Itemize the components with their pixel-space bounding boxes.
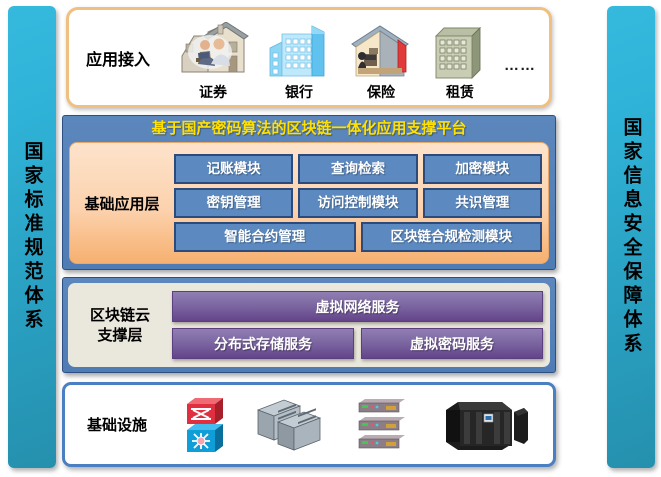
app-item-caption: 租赁	[446, 82, 474, 102]
app-item-leasing[interactable]: 租赁	[430, 14, 490, 102]
sidebar-right-label: 国家信息安全保障体系	[622, 117, 641, 357]
basic-application-layer-panel: 基础应用层 记账模块 查询检索 加密模块 密钥管理 访问控制模块 共识管理 智能…	[69, 142, 549, 264]
network-switch-icon	[183, 394, 227, 456]
service-virtual-network[interactable]: 虚拟网络服务	[172, 291, 543, 322]
platform-frame: 基于国产密码算法的区块链一体化应用支撑平台 基础应用层 记账模块 查询检索 加密…	[62, 115, 556, 270]
server-cabinet-icon	[438, 396, 530, 454]
app-item-securities[interactable]: 证券	[174, 14, 252, 102]
infrastructure-panel: 基础设施	[62, 382, 556, 467]
application-access-panel: 应用接入	[66, 7, 552, 108]
module-blockchain-compliance-detection[interactable]: 区块链合规检测模块	[361, 222, 543, 252]
rack-servers-icon	[353, 395, 411, 455]
service-row: 分布式存储服务 虚拟密码服务	[172, 328, 543, 359]
service-row: 虚拟网络服务	[172, 291, 543, 322]
app-item-insurance[interactable]: 保险	[346, 14, 416, 102]
module-key-management[interactable]: 密钥管理	[174, 188, 293, 218]
sidebar-right-information-security: 国家信息安全保障体系	[607, 6, 655, 468]
app-item-bank[interactable]: 银行	[266, 14, 332, 102]
securities-house-icon	[174, 22, 252, 80]
diagram-canvas: 国家标准规范体系 国家信息安全保障体系 应用接入	[0, 0, 661, 477]
cloud-label-line1: 区块链云	[90, 306, 150, 324]
module-encryption[interactable]: 加密模块	[423, 154, 542, 184]
service-distributed-storage[interactable]: 分布式存储服务	[172, 328, 354, 359]
insurance-house-icon	[346, 22, 416, 80]
module-smart-contract-management[interactable]: 智能合约管理	[174, 222, 356, 252]
module-row: 密钥管理 访问控制模块 共识管理	[174, 188, 542, 218]
platform-title: 基于国产密码算法的区块链一体化应用支撑平台	[63, 116, 555, 140]
application-access-label: 应用接入	[69, 46, 167, 70]
module-consensus-management[interactable]: 共识管理	[423, 188, 542, 218]
infrastructure-label: 基础设施	[65, 414, 169, 435]
module-accounting[interactable]: 记账模块	[174, 154, 293, 184]
server-stack-icon	[254, 396, 326, 454]
sidebar-left-label: 国家标准规范体系	[23, 141, 42, 333]
infrastructure-items	[169, 394, 553, 456]
service-grid: 虚拟网络服务 分布式存储服务 虚拟密码服务	[172, 286, 550, 364]
cloud-support-layer-label: 区块链云 支撑层	[68, 305, 172, 345]
service-virtual-cryptography[interactable]: 虚拟密码服务	[361, 328, 543, 359]
module-row: 记账模块 查询检索 加密模块	[174, 154, 542, 184]
module-query-search[interactable]: 查询检索	[298, 154, 417, 184]
app-item-caption: 银行	[285, 82, 313, 102]
cloud-support-frame: 区块链云 支撑层 虚拟网络服务 分布式存储服务 虚拟密码服务	[62, 277, 556, 373]
cloud-label-line2: 支撑层	[97, 326, 142, 344]
app-item-caption: 保险	[367, 82, 395, 102]
module-grid: 记账模块 查询检索 加密模块 密钥管理 访问控制模块 共识管理 智能合约管理 区…	[174, 149, 548, 257]
app-item-caption: 证券	[199, 82, 227, 102]
cloud-support-panel: 区块链云 支撑层 虚拟网络服务 分布式存储服务 虚拟密码服务	[68, 283, 550, 367]
application-access-items: 证券	[167, 14, 549, 102]
basic-application-layer-label: 基础应用层	[70, 193, 174, 214]
leasing-building-icon	[430, 22, 490, 80]
module-row: 智能合约管理 区块链合规检测模块	[174, 222, 542, 252]
module-access-control[interactable]: 访问控制模块	[298, 188, 417, 218]
sidebar-left-national-standards: 国家标准规范体系	[8, 6, 56, 468]
app-items-ellipsis: ……	[504, 57, 536, 74]
bank-building-icon	[266, 22, 332, 80]
